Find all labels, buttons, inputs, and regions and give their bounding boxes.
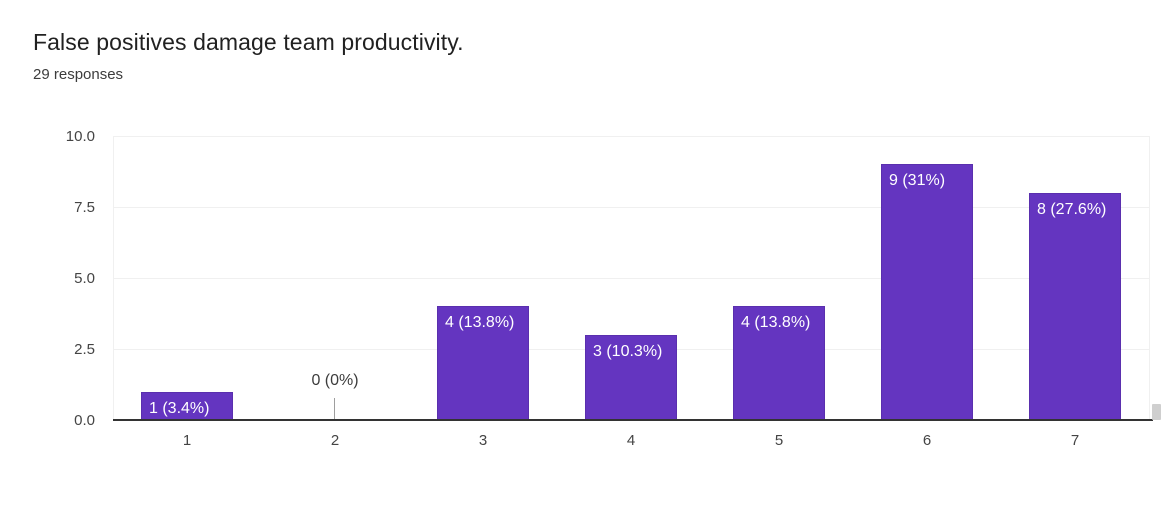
response-chart-card: False positives damage team productivity… <box>0 0 1161 525</box>
bar-column[interactable]: 3 (10.3%) <box>557 136 705 420</box>
bar-column[interactable]: 4 (13.8%) <box>705 136 853 420</box>
bar-column[interactable]: 8 (27.6%) <box>1001 136 1149 420</box>
x-tick-label: 3 <box>409 432 557 450</box>
bar-column[interactable]: 4 (13.8%) <box>409 136 557 420</box>
bar[interactable] <box>1029 193 1121 420</box>
y-tick-label: 5.0 <box>25 271 95 286</box>
response-count-label: 29 responses <box>33 65 123 85</box>
y-tick-label: 0.0 <box>25 413 95 428</box>
x-tick-label: 7 <box>1001 432 1149 450</box>
bar-value-label: 3 (10.3%) <box>593 344 662 360</box>
plot-area: 1 (3.4%)0 (0%)4 (13.8%)3 (10.3%)4 (13.8%… <box>113 136 1150 420</box>
bar-value-label: 9 (31%) <box>889 173 945 189</box>
bar-column[interactable]: 1 (3.4%) <box>113 136 261 420</box>
bar-value-label: 4 (13.8%) <box>741 315 810 331</box>
x-tick-label: 2 <box>261 432 409 450</box>
page-title: False positives damage team productivity… <box>33 28 464 57</box>
bar-value-label: 4 (13.8%) <box>445 315 514 331</box>
y-tick-label: 7.5 <box>25 200 95 215</box>
bar-column[interactable]: 9 (31%) <box>853 136 1001 420</box>
x-tick-label: 5 <box>705 432 853 450</box>
chart-resize-handle[interactable] <box>1152 404 1161 420</box>
y-tick-label: 10.0 <box>25 129 95 144</box>
bar-column[interactable]: 0 (0%) <box>261 136 409 420</box>
x-axis-line <box>113 419 1153 421</box>
x-tick-label: 4 <box>557 432 705 450</box>
zero-value-tick <box>334 398 335 420</box>
bar-value-label: 1 (3.4%) <box>149 401 209 417</box>
x-tick-label: 1 <box>113 432 261 450</box>
y-tick-label: 2.5 <box>25 342 95 357</box>
bar-value-label: 8 (27.6%) <box>1037 202 1106 218</box>
bar-value-label: 0 (0%) <box>261 373 409 389</box>
bar[interactable] <box>881 164 973 420</box>
x-tick-label: 6 <box>853 432 1001 450</box>
